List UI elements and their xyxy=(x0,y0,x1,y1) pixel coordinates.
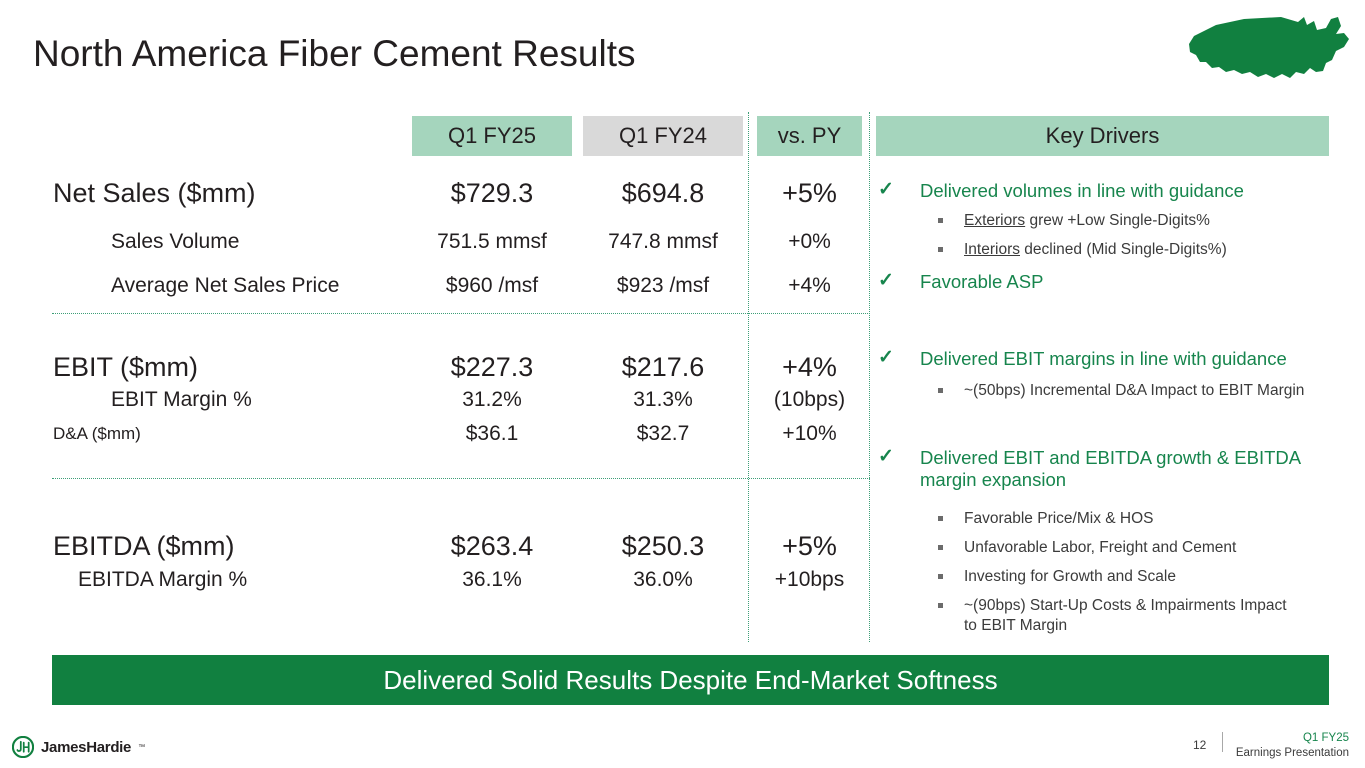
key-driver-heading: ✓ Favorable ASP xyxy=(876,271,1344,293)
row-label-net-sales: Net Sales ($mm) xyxy=(53,178,256,209)
key-drivers-group-2: ✓ Favorable ASP xyxy=(876,271,1344,293)
row-label-da: D&A ($mm) xyxy=(53,424,141,444)
row-variance-sales-volume: +0% xyxy=(757,230,862,254)
row-label-ebitda-margin: EBITDA Margin % xyxy=(78,568,247,592)
page-number: 12 xyxy=(1193,738,1206,752)
page-title: North America Fiber Cement Results xyxy=(33,33,635,75)
check-mark-icon: ✓ xyxy=(878,347,894,369)
key-driver-heading: ✓ Delivered EBIT margins in line with gu… xyxy=(876,348,1344,370)
row-prior-sales-volume: 747.8 mmsf xyxy=(583,230,743,254)
slide: North America Fiber Cement Results Q1 FY… xyxy=(0,0,1365,768)
trademark-symbol: ™ xyxy=(138,744,145,751)
square-bullet-icon xyxy=(938,247,943,252)
key-driver-bullet-text: Unfavorable Labor, Freight and Cement xyxy=(964,539,1236,556)
row-current-ebit: $227.3 xyxy=(412,352,572,383)
row-prior-ebitda-margin: 36.0% xyxy=(583,568,743,592)
row-label-avg-net-sales-price: Average Net Sales Price xyxy=(111,274,339,298)
row-prior-avg-net-sales-price: $923 /msf xyxy=(583,274,743,298)
summary-banner-text: Delivered Solid Results Despite End-Mark… xyxy=(383,665,997,696)
row-prior-da: $32.7 xyxy=(583,422,743,446)
check-mark-icon: ✓ xyxy=(878,270,894,292)
brand-name: JamesHardie xyxy=(41,739,131,756)
key-driver-heading: ✓ Delivered volumes in line with guidanc… xyxy=(876,180,1344,202)
column-header-current: Q1 FY25 xyxy=(412,116,572,156)
section-divider-ebit xyxy=(52,478,870,479)
key-driver-bullet: Favorable Price/Mix & HOS xyxy=(876,509,1344,529)
key-driver-bullet: Investing for Growth and Scale xyxy=(876,567,1344,587)
square-bullet-icon xyxy=(938,516,943,521)
key-driver-bullet-emphasis: Exteriors xyxy=(964,212,1025,229)
deck-period: Q1 FY25 xyxy=(1303,732,1349,744)
key-drivers-group-3: ✓ Delivered EBIT margins in line with gu… xyxy=(876,348,1344,401)
square-bullet-icon xyxy=(938,388,943,393)
row-prior-ebit-margin: 31.3% xyxy=(583,388,743,412)
row-label-ebitda: EBITDA ($mm) xyxy=(53,531,235,562)
square-bullet-icon xyxy=(938,603,943,608)
key-driver-bullet: ~(90bps) Start-Up Costs & Impairments Im… xyxy=(876,596,1294,636)
row-prior-ebit: $217.6 xyxy=(583,352,743,383)
row-current-ebit-margin: 31.2% xyxy=(412,388,572,412)
key-driver-heading-text: Delivered EBIT and EBITDA growth & EBITD… xyxy=(920,447,1300,490)
row-variance-da: +10% xyxy=(757,422,862,446)
key-driver-heading-text: Favorable ASP xyxy=(920,271,1043,292)
section-divider-net-sales xyxy=(52,313,870,314)
row-variance-net-sales: +5% xyxy=(757,178,862,209)
key-driver-bullet-text: ~(50bps) Incremental D&A Impact to EBIT … xyxy=(964,382,1304,399)
row-variance-avg-net-sales-price: +4% xyxy=(757,274,862,298)
row-variance-ebitda-margin: +10bps xyxy=(757,568,862,592)
check-mark-icon: ✓ xyxy=(878,446,894,468)
square-bullet-icon xyxy=(938,574,943,579)
square-bullet-icon xyxy=(938,218,943,223)
key-drivers-group-4: ✓ Delivered EBIT and EBITDA growth & EBI… xyxy=(876,447,1344,636)
key-driver-bullet: Unfavorable Labor, Freight and Cement xyxy=(876,538,1344,558)
jameshardie-logo-icon: JamesHardie ™ xyxy=(12,736,145,758)
square-bullet-icon xyxy=(938,545,943,550)
check-mark-icon: ✓ xyxy=(878,179,894,201)
row-label-sales-volume: Sales Volume xyxy=(111,230,239,254)
key-driver-bullet-text: ~(90bps) Start-Up Costs & Impairments Im… xyxy=(964,597,1287,634)
column-header-variance: vs. PY xyxy=(757,116,862,156)
row-current-da: $36.1 xyxy=(412,422,572,446)
key-driver-bullet-text: grew +Low Single-Digits% xyxy=(1025,212,1210,229)
key-driver-bullet-text: Investing for Growth and Scale xyxy=(964,568,1176,585)
column-divider-drivers-left xyxy=(869,112,870,642)
key-driver-bullet-emphasis: Interiors xyxy=(964,241,1020,258)
key-driver-bullet-text: Favorable Price/Mix & HOS xyxy=(964,510,1154,527)
key-driver-heading: ✓ Delivered EBIT and EBITDA growth & EBI… xyxy=(876,447,1312,491)
column-header-key-drivers: Key Drivers xyxy=(876,116,1329,156)
row-current-sales-volume: 751.5 mmsf xyxy=(412,230,572,254)
row-prior-ebitda: $250.3 xyxy=(583,531,743,562)
key-driver-bullet: Interiors declined (Mid Single-Digits%) xyxy=(876,240,1344,260)
row-prior-net-sales: $694.8 xyxy=(583,178,743,209)
summary-banner: Delivered Solid Results Despite End-Mark… xyxy=(52,655,1329,705)
row-current-avg-net-sales-price: $960 /msf xyxy=(412,274,572,298)
column-divider-variance-left xyxy=(748,112,749,642)
key-driver-heading-text: Delivered volumes in line with guidance xyxy=(920,180,1244,201)
row-variance-ebit: +4% xyxy=(757,352,862,383)
row-label-ebit-margin: EBIT Margin % xyxy=(111,388,252,412)
row-current-net-sales: $729.3 xyxy=(412,178,572,209)
row-current-ebitda-margin: 36.1% xyxy=(412,568,572,592)
united-states-map-icon xyxy=(1186,8,1358,90)
row-variance-ebitda: +5% xyxy=(757,531,862,562)
row-variance-ebit-margin: (10bps) xyxy=(757,388,862,412)
footer-divider xyxy=(1222,732,1223,752)
key-drivers-group-1: ✓ Delivered volumes in line with guidanc… xyxy=(876,180,1344,260)
row-label-ebit: EBIT ($mm) xyxy=(53,352,198,383)
column-header-prior: Q1 FY24 xyxy=(583,116,743,156)
deck-name: Earnings Presentation xyxy=(1236,747,1349,759)
key-driver-heading-text: Delivered EBIT margins in line with guid… xyxy=(920,348,1287,369)
key-driver-bullet: Exteriors grew +Low Single-Digits% xyxy=(876,211,1344,231)
row-current-ebitda: $263.4 xyxy=(412,531,572,562)
key-driver-bullet: ~(50bps) Incremental D&A Impact to EBIT … xyxy=(876,381,1344,401)
key-driver-bullet-text: declined (Mid Single-Digits%) xyxy=(1020,241,1227,258)
